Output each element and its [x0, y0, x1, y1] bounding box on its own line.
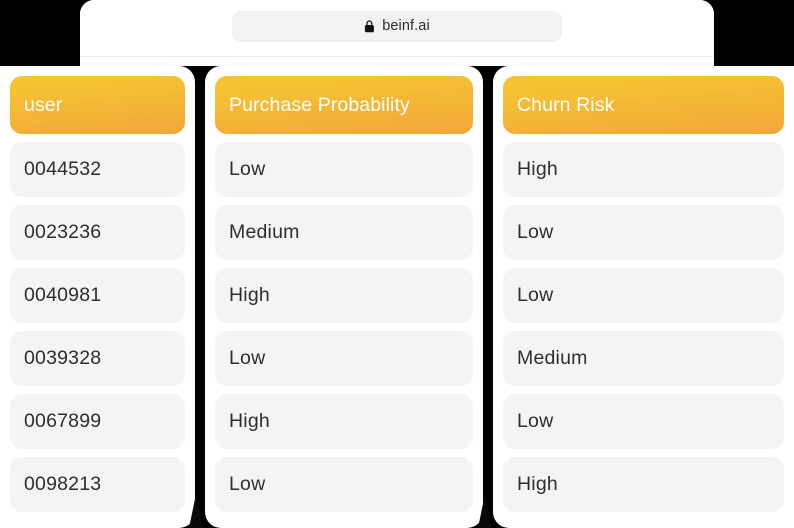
table-cell[interactable]: Medium [503, 331, 784, 386]
column-header-user[interactable]: user [10, 76, 185, 134]
browser-window: beinf.ai [80, 0, 714, 66]
table-cell[interactable]: Low [503, 268, 784, 323]
screenshot-stage: beinf.ai user 0044532 0023236 0040981 00… [0, 0, 794, 528]
column-header-churn-risk[interactable]: Churn Risk [503, 76, 784, 134]
address-bar[interactable]: beinf.ai [232, 11, 562, 42]
url-text: beinf.ai [382, 19, 430, 34]
table-cell[interactable]: 0023236 [10, 205, 185, 260]
table-cell[interactable]: Low [503, 394, 784, 449]
table-cell[interactable]: Medium [215, 205, 473, 260]
browser-chrome: beinf.ai [80, 0, 714, 57]
table-cell[interactable]: 0044532 [10, 142, 185, 197]
table-cell[interactable]: Low [503, 205, 784, 260]
table-cell[interactable]: 0039328 [10, 331, 185, 386]
column-header-purchase-probability[interactable]: Purchase Probability [215, 76, 473, 134]
table-cell[interactable]: Low [215, 331, 473, 386]
table-cell[interactable]: High [215, 394, 473, 449]
table-cell[interactable]: Low [215, 457, 473, 512]
table-cell[interactable]: Low [215, 142, 473, 197]
column-card-purchase-probability: Purchase Probability Low Medium High Low… [205, 66, 483, 528]
lock-icon [364, 20, 375, 33]
table-cell[interactable]: 0040981 [10, 268, 185, 323]
column-card-user: user 0044532 0023236 0040981 0039328 006… [0, 66, 195, 528]
table-cell[interactable]: 0067899 [10, 394, 185, 449]
table-cell[interactable]: High [503, 457, 784, 512]
table-columns: user 0044532 0023236 0040981 0039328 006… [0, 66, 794, 528]
table-cell[interactable]: 0098213 [10, 457, 185, 512]
table-cell[interactable]: High [215, 268, 473, 323]
column-card-churn-risk: Churn Risk High Low Low Medium Low High [493, 66, 794, 528]
table-cell[interactable]: High [503, 142, 784, 197]
